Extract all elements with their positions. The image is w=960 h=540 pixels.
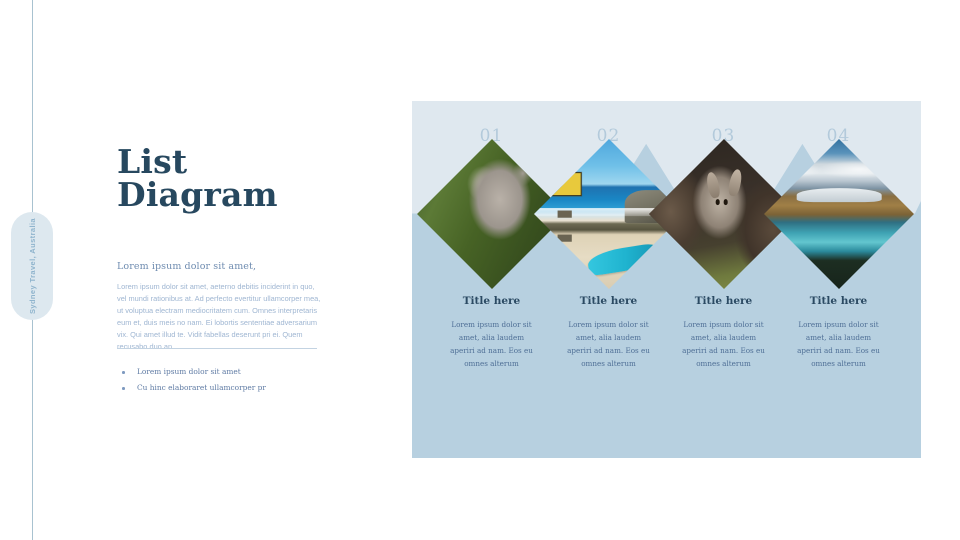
kangaroo-eyes — [715, 199, 720, 204]
card-body: Lorem ipsum dolor sit amet, alia laudem … — [563, 318, 655, 371]
diagram-panel: 01 Title here Lorem ipsum dolor sit amet… — [412, 101, 921, 458]
beach-surfboard-photo[interactable] — [556, 161, 662, 267]
page-title: List Diagram — [117, 145, 339, 211]
card-row: 01 Title here Lorem ipsum dolor sit amet… — [412, 101, 921, 458]
body-paragraph: Lorem ipsum dolor sit amet, aeterno debi… — [117, 281, 325, 353]
left-column: List Diagram Lorem ipsum dolor sit amet,… — [117, 145, 339, 353]
coastal-landscape-photo[interactable] — [786, 161, 892, 267]
card-body: Lorem ipsum dolor sit amet, alia laudem … — [446, 318, 538, 371]
slide: Sydney Travel, Australia List Diagram Lo… — [0, 0, 960, 540]
lead-heading: Lorem ipsum dolor sit amet, — [117, 261, 339, 272]
side-tag-pill: Sydney Travel, Australia — [11, 212, 53, 320]
list-item: Lorem ipsum dolor sit amet — [119, 368, 329, 376]
list-item[interactable]: 03 Title here Lorem ipsum dolor sit amet… — [660, 101, 787, 371]
card-body: Lorem ipsum dolor sit amet, alia laudem … — [678, 318, 770, 371]
card-title: Title here — [428, 296, 555, 307]
list-item[interactable]: 01 Title here Lorem ipsum dolor sit amet… — [428, 101, 555, 371]
side-tag-label: Sydney Travel, Australia — [28, 218, 37, 314]
bullet-list: Lorem ipsum dolor sit amet Cu hinc elabo… — [119, 368, 329, 400]
card-body: Lorem ipsum dolor sit amet, alia laudem … — [793, 318, 885, 371]
list-item[interactable]: 04 Title here Lorem ipsum dolor sit amet… — [775, 101, 902, 371]
kangaroo-photo[interactable] — [671, 161, 777, 267]
card-title: Title here — [660, 296, 787, 307]
divider — [117, 348, 317, 349]
surfboard — [586, 242, 659, 276]
koala-photo[interactable] — [439, 161, 545, 267]
list-item: Cu hinc elaboraret ullamcorper pr — [119, 384, 329, 392]
list-item[interactable]: 02 Title here Lorem ipsum dolor sit amet… — [545, 101, 672, 371]
card-title: Title here — [775, 296, 902, 307]
card-title: Title here — [545, 296, 672, 307]
